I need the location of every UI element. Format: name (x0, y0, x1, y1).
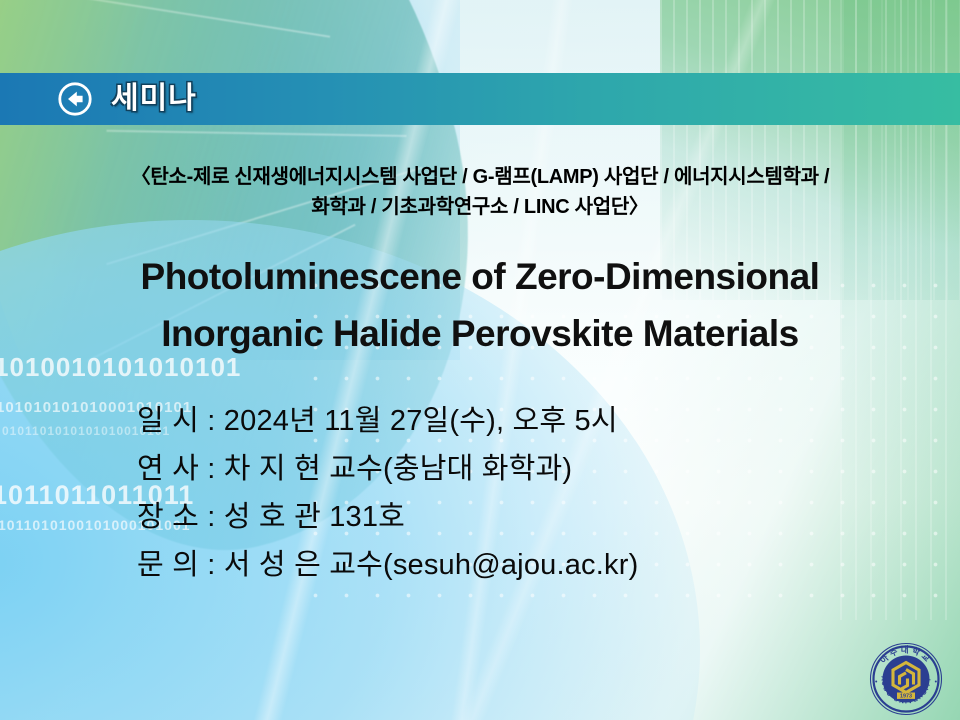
seminar-details: 일 시 : 2024년 11월 27일(수), 오후 5시 연 사 : 차 지 … (137, 398, 638, 589)
header-bar: 세미나 (0, 73, 960, 125)
back-arrow-circle-icon[interactable] (57, 81, 93, 117)
logo-founded-year: 1973 (900, 694, 912, 700)
seminar-poster-slide: 1010010101010101 101010101010001010101 0… (0, 0, 960, 720)
organizers-subtitle: 〈탄소-제로 신재생에너지시스템 사업단 / G-램프(LAMP) 사업단 / … (30, 162, 930, 222)
organizers-subtitle-line-1: 〈탄소-제로 신재생에너지시스템 사업단 / G-램프(LAMP) 사업단 / … (30, 162, 930, 192)
header-title: 세미나 (111, 84, 197, 114)
page-title-line-2: Inorganic Halide Perovskite Materials (40, 305, 920, 362)
detail-location: 장 소 : 성 호 관 131호 (137, 494, 638, 542)
organizers-subtitle-line-2: 화학과 / 기초과학연구소 / LINC 사업단〉 (30, 192, 930, 222)
ajou-university-logo: 아주대학교 AJOU UNIVERSITY 1973 (866, 640, 946, 718)
detail-contact: 문 의 : 서 성 은 교수(sesuh@ajou.ac.kr) (137, 542, 638, 590)
detail-speaker: 연 사 : 차 지 현 교수(충남대 화학과) (137, 446, 638, 494)
detail-datetime: 일 시 : 2024년 11월 27일(수), 오후 5시 (137, 398, 638, 446)
page-title: Photoluminescene of Zero-Dimensional Ino… (40, 248, 920, 363)
page-title-line-1: Photoluminescene of Zero-Dimensional (40, 248, 920, 305)
